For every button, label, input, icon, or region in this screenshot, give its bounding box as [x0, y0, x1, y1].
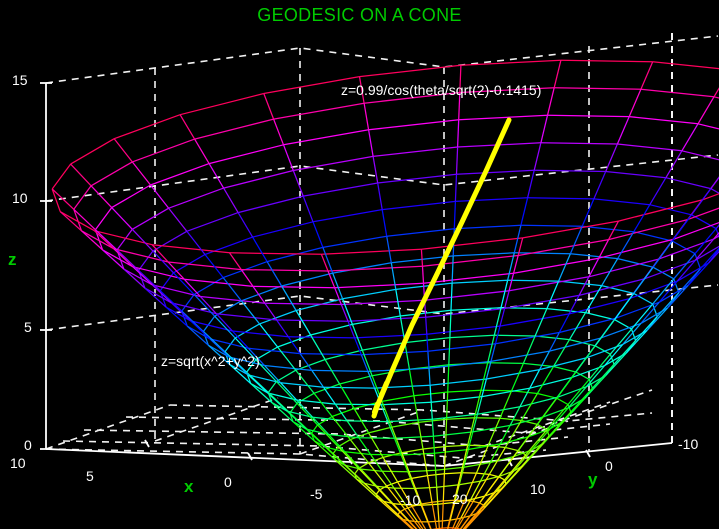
mesh-line — [395, 436, 434, 438]
mesh-line — [361, 351, 428, 354]
mesh-line — [595, 320, 614, 346]
mesh-line — [682, 124, 698, 151]
mesh-line — [345, 452, 371, 455]
mesh-line — [412, 478, 422, 504]
mesh-line — [395, 438, 402, 455]
mesh-line — [439, 521, 440, 529]
mesh-line — [505, 295, 579, 308]
mesh-line — [521, 198, 528, 226]
mesh-line — [297, 400, 336, 404]
mesh-line — [433, 436, 434, 453]
y-axis-line — [444, 443, 672, 466]
x-tick-0 — [248, 453, 252, 460]
mesh-line — [688, 263, 709, 286]
mesh-line — [114, 139, 132, 162]
mesh-line — [537, 367, 553, 394]
mesh-line — [52, 164, 70, 189]
mesh-line — [449, 338, 450, 365]
mesh-line — [209, 145, 283, 164]
mesh-line — [521, 225, 582, 226]
mesh-line — [216, 314, 232, 331]
mesh-line — [427, 334, 428, 351]
mesh-line — [421, 249, 422, 266]
mesh-line — [152, 245, 229, 253]
mesh-line — [132, 139, 194, 162]
mesh-line — [421, 504, 438, 505]
mesh-line — [253, 237, 268, 262]
mesh-line — [132, 162, 150, 185]
mesh-line — [629, 89, 641, 116]
mesh-line — [618, 259, 653, 268]
mesh-line — [303, 196, 313, 222]
mesh-line — [428, 351, 429, 368]
mesh-line — [343, 289, 396, 298]
mesh-line — [446, 419, 447, 446]
mesh-line — [382, 396, 414, 402]
mesh-line — [382, 210, 387, 237]
mesh-line — [341, 305, 348, 322]
mesh-line — [355, 468, 359, 474]
mesh-line — [402, 453, 412, 479]
mesh-line — [523, 336, 535, 363]
mesh-line — [528, 170, 535, 198]
mesh-line — [602, 286, 634, 294]
mesh-line — [364, 103, 369, 130]
mesh-line — [293, 422, 314, 441]
mesh-line — [634, 205, 650, 232]
mesh-line — [418, 422, 423, 449]
mesh-line — [582, 226, 634, 231]
mesh-line — [429, 361, 491, 368]
mesh-line — [277, 320, 348, 321]
mesh-line — [438, 504, 439, 521]
mesh-line — [606, 144, 618, 172]
mesh-line — [486, 370, 539, 379]
mesh-line — [711, 162, 719, 188]
mesh-line — [647, 308, 668, 331]
mesh-line — [151, 185, 169, 208]
mesh-line — [409, 369, 414, 396]
mesh-line — [311, 335, 326, 360]
mesh-line — [71, 139, 115, 164]
mesh-line — [547, 281, 559, 309]
mesh-line — [447, 418, 475, 419]
mesh-line — [481, 390, 512, 391]
mesh-line — [476, 473, 489, 474]
mesh-line — [328, 266, 423, 271]
mesh-line — [454, 473, 461, 501]
mesh-line — [500, 391, 512, 418]
mesh-line — [224, 188, 239, 213]
mesh-line — [312, 370, 324, 387]
mesh-line — [430, 379, 486, 385]
mesh-line — [459, 115, 548, 120]
mesh-line — [454, 225, 521, 228]
mesh-line — [500, 314, 569, 326]
mesh-line — [264, 94, 274, 120]
mesh-line — [423, 449, 428, 476]
mesh-line — [695, 240, 719, 260]
mesh-line — [312, 370, 368, 371]
mesh-line — [169, 188, 224, 208]
mesh-line — [293, 171, 303, 197]
gridline-z-10 — [46, 155, 718, 201]
mesh-line — [554, 367, 576, 373]
mesh-line — [477, 397, 482, 415]
mesh-line — [359, 438, 395, 439]
mesh-line — [241, 270, 328, 271]
mesh-line — [230, 253, 242, 270]
mesh-line — [505, 291, 510, 309]
mesh-line — [398, 478, 412, 482]
mesh-line — [323, 236, 387, 247]
mesh-line — [249, 348, 265, 365]
mesh-line — [405, 343, 410, 370]
mesh-line — [95, 208, 111, 230]
mesh-line — [360, 65, 461, 76]
mesh-line — [442, 501, 443, 528]
mesh-line — [570, 254, 617, 259]
mesh-line — [570, 226, 582, 253]
mesh-line — [415, 489, 422, 506]
mesh-line — [698, 124, 719, 136]
mesh-line — [714, 70, 719, 97]
mesh-line — [599, 240, 609, 259]
axis-lines — [40, 33, 672, 466]
mesh-line — [335, 288, 342, 305]
mesh-line — [230, 253, 322, 255]
mesh-line — [650, 205, 692, 215]
mesh-line — [267, 262, 282, 286]
mesh-line — [514, 256, 519, 274]
mesh-line — [284, 145, 294, 171]
mesh-line — [296, 311, 311, 336]
mesh-line — [534, 143, 541, 171]
mesh-line — [641, 62, 653, 89]
mesh-line — [112, 185, 151, 208]
mesh-line — [91, 162, 132, 186]
mesh-line — [626, 330, 647, 353]
mesh-line — [355, 334, 427, 338]
mesh-line — [114, 115, 180, 139]
mesh-line — [392, 427, 402, 453]
mesh-line — [617, 144, 682, 151]
mesh-line — [187, 213, 238, 232]
mesh-line — [274, 103, 365, 119]
mesh-line — [338, 440, 350, 447]
mesh-line — [481, 463, 491, 482]
mesh-line — [241, 301, 259, 324]
mesh-line — [359, 463, 369, 469]
mesh-line — [369, 120, 459, 130]
mesh-line — [296, 370, 314, 393]
mesh-line — [666, 151, 682, 178]
mesh-line — [265, 303, 277, 320]
mesh-line — [428, 344, 496, 352]
mesh-line — [378, 174, 457, 183]
mesh-line — [548, 88, 555, 116]
mesh-line — [688, 197, 719, 220]
mesh-line — [586, 313, 615, 320]
mesh-line — [477, 407, 520, 415]
mesh-line — [505, 448, 518, 451]
mesh-line — [457, 147, 458, 174]
mesh-line — [521, 394, 537, 421]
mesh-line — [509, 273, 513, 291]
mesh-line — [436, 470, 437, 487]
mesh-line — [412, 476, 428, 479]
mesh-line — [650, 178, 666, 205]
mesh-line — [369, 427, 392, 433]
mesh-line — [473, 501, 479, 503]
mesh-line — [314, 393, 332, 416]
mesh-line — [256, 360, 277, 382]
mesh-line — [313, 210, 382, 222]
mesh-line — [433, 432, 472, 436]
mesh-line — [579, 277, 589, 296]
mesh-line — [589, 354, 610, 379]
mesh-line — [393, 504, 406, 505]
mesh-line — [548, 115, 630, 116]
mesh-line — [534, 170, 606, 171]
mesh-line — [488, 363, 524, 364]
mesh-line — [594, 172, 606, 199]
mesh-line — [428, 521, 439, 522]
mesh-line — [408, 470, 436, 471]
mesh-line — [369, 130, 374, 157]
mesh-line — [360, 77, 365, 104]
mesh-line — [559, 254, 571, 281]
mesh-line — [602, 259, 618, 286]
mesh-line — [514, 253, 570, 254]
mesh-line — [423, 266, 424, 283]
mesh-line — [432, 419, 433, 436]
mesh-line — [362, 343, 405, 351]
mesh-line — [281, 383, 324, 388]
mesh-line — [561, 60, 653, 62]
mesh-line — [455, 198, 527, 202]
mesh-line — [224, 171, 294, 189]
mesh-line — [421, 505, 428, 522]
mesh-line — [460, 88, 554, 93]
mesh-line — [364, 93, 460, 104]
mesh-line — [139, 251, 153, 270]
mesh-line — [180, 115, 195, 139]
mesh-line — [415, 487, 437, 488]
mesh-line — [500, 418, 522, 420]
mesh-line — [376, 490, 379, 494]
mesh-line — [508, 280, 559, 281]
mesh-line — [653, 62, 719, 70]
mesh-line — [381, 402, 431, 405]
mesh-line — [425, 291, 510, 301]
mesh-line — [457, 170, 535, 174]
mesh-line — [435, 453, 436, 470]
mesh-line — [657, 293, 679, 317]
mesh-line — [634, 293, 653, 304]
mesh-line — [253, 286, 335, 287]
mesh-line — [559, 281, 602, 286]
mesh-line — [427, 326, 500, 334]
mesh-line — [311, 324, 353, 335]
mesh-line — [450, 502, 455, 520]
mesh-line — [209, 164, 224, 189]
mesh-line — [265, 366, 312, 371]
mesh-line — [268, 382, 276, 393]
mesh-line — [168, 262, 241, 270]
mesh-line — [341, 300, 424, 304]
mesh-line — [448, 365, 449, 392]
mesh-line — [373, 147, 458, 156]
mesh-line — [382, 201, 455, 209]
mesh-line — [361, 469, 383, 471]
figure-canvas: GEODESIC ON A CONE 15 10 5 0 10 5 0 -5 -… — [0, 0, 719, 529]
mesh-line — [357, 479, 378, 498]
mesh-line — [205, 237, 253, 254]
mesh-line — [452, 256, 453, 283]
mesh-line — [437, 485, 460, 488]
mesh-line — [509, 277, 589, 291]
mesh-line — [576, 346, 595, 372]
mesh-line — [235, 324, 259, 338]
mesh-line — [180, 94, 264, 115]
mesh-line — [535, 336, 569, 340]
mesh-line — [443, 474, 444, 501]
mesh-line — [537, 394, 556, 399]
mesh-line — [530, 370, 540, 389]
mesh-line — [460, 65, 461, 92]
mesh-line — [480, 503, 484, 505]
mesh-line — [512, 363, 524, 390]
mesh-line — [459, 93, 460, 120]
mesh-line — [303, 183, 378, 196]
mesh-line — [554, 88, 641, 90]
mesh-line — [594, 199, 650, 205]
mesh-line — [313, 222, 323, 248]
mesh-line — [253, 222, 313, 237]
mesh-line — [523, 221, 619, 238]
mesh-line — [459, 481, 480, 485]
mesh-line — [430, 385, 431, 402]
mesh-line — [387, 229, 455, 237]
mesh-line — [373, 156, 378, 183]
mesh-line — [672, 215, 691, 241]
mesh-line — [523, 363, 553, 366]
mesh-line — [488, 335, 495, 363]
mesh-line — [340, 376, 373, 384]
mesh-line — [514, 258, 599, 273]
mesh-line — [698, 97, 714, 124]
mesh-line — [455, 174, 456, 201]
mesh-line — [264, 77, 360, 94]
mesh-line — [335, 283, 424, 288]
mesh-line — [71, 164, 92, 186]
mesh-line — [200, 297, 216, 314]
mesh-line — [238, 213, 253, 238]
mesh-line — [436, 467, 464, 470]
mesh-line — [241, 270, 253, 287]
mesh-line — [450, 335, 494, 337]
mesh-line — [446, 445, 468, 446]
mesh-line — [277, 320, 289, 337]
mesh-line — [182, 295, 194, 312]
mesh-line — [284, 130, 369, 145]
mesh-line — [325, 360, 340, 385]
mesh-line — [541, 143, 618, 144]
mesh-line — [494, 308, 501, 336]
mesh-line — [629, 117, 698, 124]
mesh-line — [91, 186, 112, 208]
mesh-line — [634, 232, 672, 241]
mesh-line — [282, 273, 333, 286]
mesh-line — [520, 388, 530, 407]
mesh-line — [324, 387, 375, 388]
mesh-line — [554, 60, 561, 87]
mesh-line — [450, 518, 461, 520]
mesh-line — [448, 390, 481, 392]
mesh-line — [274, 119, 284, 145]
mesh-line — [606, 172, 666, 178]
mesh-line — [428, 476, 433, 503]
mesh-line — [300, 354, 361, 355]
gridline-z-15 — [46, 36, 718, 83]
mesh-line — [447, 392, 448, 419]
mesh-line — [421, 502, 432, 504]
mesh-line — [679, 269, 701, 293]
mesh-line — [297, 400, 313, 417]
mesh-line — [714, 97, 719, 110]
mesh-line — [293, 156, 373, 170]
mesh-line — [458, 120, 459, 147]
mesh-line — [195, 139, 210, 164]
mesh-line — [112, 208, 133, 230]
mesh-line — [396, 289, 401, 316]
mesh-line — [253, 286, 265, 303]
mesh-line — [335, 404, 381, 405]
mesh-line — [347, 421, 388, 422]
mesh-line — [535, 309, 547, 336]
mesh-line — [378, 183, 383, 210]
cone-surface-mesh — [52, 60, 719, 529]
floor-line-y-0 — [170, 405, 652, 421]
mesh-line — [666, 178, 711, 189]
mesh-line — [408, 472, 415, 489]
mesh-line — [550, 333, 560, 352]
mesh-line — [589, 258, 599, 277]
mesh-line — [335, 404, 347, 421]
mesh-line — [499, 477, 505, 480]
mesh-line — [187, 231, 205, 254]
mesh-line — [232, 331, 288, 337]
mesh-line — [454, 201, 455, 228]
mesh-line — [426, 317, 427, 334]
x-tick-5 — [145, 440, 149, 447]
mesh-line — [443, 500, 454, 501]
mesh-line — [444, 473, 461, 474]
mesh-line — [402, 449, 423, 453]
mesh-line — [559, 314, 569, 333]
mesh-line — [223, 278, 241, 301]
mesh-line — [451, 283, 452, 310]
mesh-line — [438, 502, 455, 504]
mesh-line — [132, 208, 168, 229]
mesh-line — [528, 198, 594, 199]
mesh-line — [216, 314, 276, 320]
mesh-line — [617, 117, 629, 144]
mesh-line — [582, 199, 594, 226]
mesh-line — [501, 280, 508, 308]
mesh-line — [711, 162, 719, 188]
